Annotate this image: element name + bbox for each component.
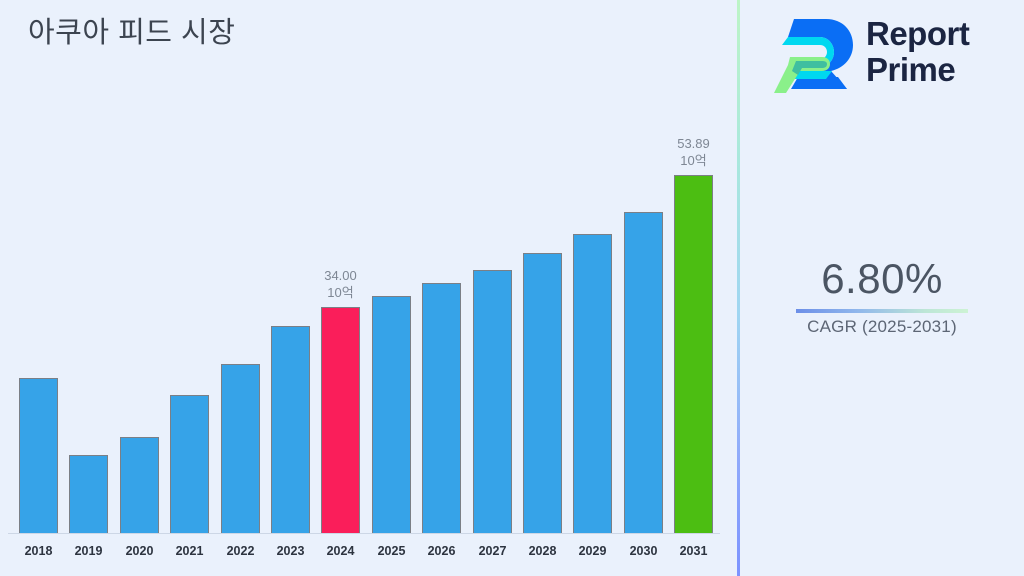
cagr-block: 6.80% CAGR (2025-2031) [740,254,1024,337]
bar-2027[interactable] [473,270,512,533]
bar-2031[interactable] [674,175,713,533]
bar-value-number-2024: 34.00 [296,267,386,284]
bar-2025[interactable] [372,296,411,533]
report-prime-wordmark: Report Prime [866,16,969,88]
x-axis-line [8,533,720,534]
x-tick-label-2031: 2031 [664,544,724,558]
brand-name-line-2: Prime [866,52,969,88]
bar-value-label-2031: 53.8910억 [649,135,739,169]
bar-2021[interactable] [170,395,209,533]
bar-2020[interactable] [120,437,159,533]
chart-panel: 아쿠아 피드 시장 20182019202020212022202334.001… [0,0,738,576]
bar-2026[interactable] [422,283,461,533]
brand-panel: Report Prime 6.80% CAGR (2025-2031) [740,0,1024,576]
report-prime-logo[interactable]: Report Prime [774,12,1004,98]
bar-2023[interactable] [271,326,310,533]
bar-2019[interactable] [69,455,108,533]
bar-value-unit-2031: 10억 [649,152,739,169]
infographic-page: 아쿠아 피드 시장 20182019202020212022202334.001… [0,0,1024,576]
cagr-value: 6.80% [740,254,1024,304]
bar-2030[interactable] [624,212,663,533]
bar-2028[interactable] [523,253,562,533]
bar-2022[interactable] [221,364,260,533]
bar-value-number-2031: 53.89 [649,135,739,152]
bar-2024[interactable] [321,307,360,533]
bar-2018[interactable] [19,378,58,533]
bar-chart-plot-area: 20182019202020212022202334.0010억20242025… [0,0,738,576]
brand-name-line-1: Report [866,16,969,52]
cagr-divider-rule [796,309,968,313]
cagr-caption: CAGR (2025-2031) [740,317,1024,337]
report-prime-logo-mark [774,15,856,95]
bar-2029[interactable] [573,234,612,533]
